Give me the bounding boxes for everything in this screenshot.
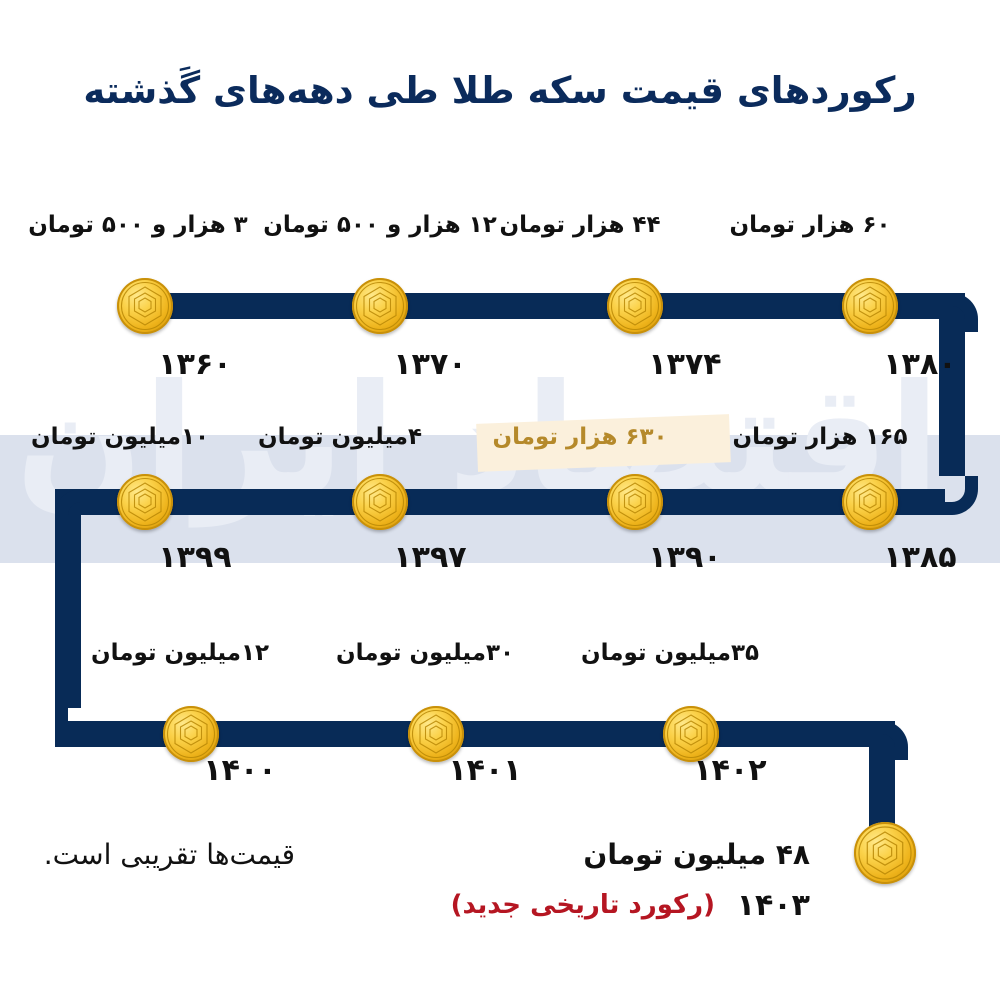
footnote-approximate-prices: قیمت‌ها تقریبی است.: [44, 838, 295, 871]
timeline-track-row2: [55, 489, 945, 515]
year-label-1385: ۱۳۸۵: [820, 540, 1000, 575]
price-label-1390: ۶۳۰ هزار تومان: [455, 424, 705, 450]
year-label-1370: ۱۳۷۰: [330, 347, 530, 382]
year-label-1402: ۱۴۰۲: [630, 753, 830, 788]
price-label-1403: ۴۸ میلیون تومان: [550, 838, 810, 871]
year-label-1380: ۱۳۸۰: [820, 347, 1000, 382]
coin-icon-1397: [352, 474, 408, 530]
coin-icon-1403: [854, 822, 916, 884]
price-label-1401: ۳۰میلیون تومان: [290, 640, 560, 666]
coin-icon-1380: [842, 278, 898, 334]
price-label-1399: ۱۰میلیون تومان: [0, 424, 260, 450]
price-label-1374: ۴۴ هزار تومان: [455, 212, 705, 238]
coin-icon-1374: [607, 278, 663, 334]
infographic-canvas: اقتصاد ایران رکوردهای قیمت سکه طلا طی ده…: [0, 0, 1000, 1000]
year-label-1360: ۱۳۶۰: [95, 347, 295, 382]
page-title: رکوردهای قیمت سکه طلا طی دهه‌های گَذشته: [0, 64, 1000, 118]
year-label-1397: ۱۳۹۷: [330, 540, 530, 575]
price-label-1385: ۱۶۵ هزار تومان: [695, 424, 945, 450]
coin-icon-1370: [352, 278, 408, 334]
year-label-1399: ۱۳۹۹: [95, 540, 295, 575]
year-label-1401: ۱۴۰۱: [385, 753, 585, 788]
price-label-1402: ۳۵میلیون تومان: [535, 640, 805, 666]
coin-icon-1399: [117, 474, 173, 530]
year-label-1390: ۱۳۹۰: [585, 540, 785, 575]
price-label-1380: ۶۰ هزار تومان: [685, 212, 935, 238]
year-label-1400: ۱۴۰۰: [140, 753, 340, 788]
year-label-1374: ۱۳۷۴: [585, 347, 785, 382]
coin-icon-1385: [842, 474, 898, 530]
year-label-1403: ۱۴۰۳: [737, 888, 810, 923]
coin-icon-1360: [117, 278, 173, 334]
record-badge-1403: (رکورد تاریخی جدید): [485, 890, 715, 920]
timeline-track-right-down: [939, 319, 965, 476]
price-label-1400: ۱۲میلیون تومان: [45, 640, 315, 666]
coin-icon-1390: [607, 474, 663, 530]
timeline-track-left-down: [55, 515, 81, 708]
